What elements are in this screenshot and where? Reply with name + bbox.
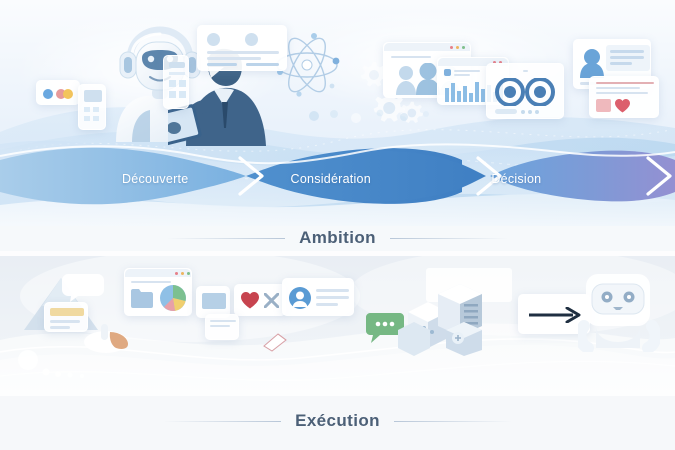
funnel-stage-label-1: Découverte: [122, 172, 188, 186]
server-boxes: [398, 268, 528, 356]
title-rule-left: [163, 421, 281, 422]
engagement-heart-card: [589, 76, 659, 118]
message-card: [205, 314, 239, 340]
funnel-stage-label-2: Considération: [291, 172, 371, 186]
title-rule-right: [394, 421, 512, 422]
chat-tail-icon: [208, 67, 224, 78]
note-icon: [262, 332, 288, 352]
arrow-right-icon: [529, 307, 581, 323]
device-keypad: [78, 84, 106, 130]
chat-contact-card: [197, 25, 287, 71]
heart-reaction-icon: [241, 292, 259, 309]
avatar-icon: [289, 287, 311, 309]
mobile-device: [163, 55, 189, 109]
execution-panel: Découverte Considération Décision Achat …: [0, 256, 675, 450]
folder-icon: [131, 288, 153, 308]
avatar: [245, 33, 258, 46]
title-rule-right: [390, 238, 508, 239]
targeting-card: [486, 63, 564, 119]
ambition-panel: Découverte Considération Décision Ambiti…: [0, 0, 675, 253]
profile-contact-card: [282, 278, 354, 316]
infographic-canvas: Découverte Considération Décision Ambiti…: [0, 0, 675, 450]
avatar: [207, 33, 220, 46]
analytics-pie-card: [124, 268, 192, 316]
speech-bubble-icon: [62, 274, 104, 302]
heart-icon: [615, 99, 630, 113]
avatar-icon: [580, 48, 604, 78]
execution-section-title: Exécution: [295, 411, 380, 431]
swatch-card: [36, 80, 80, 105]
close-x-icon: [264, 293, 279, 308]
audience-dots: [300, 104, 440, 128]
ambition-funnel: Découverte Considération Décision: [0, 140, 675, 218]
gear-icon: [358, 60, 388, 90]
ambition-title-row: Ambition: [0, 228, 675, 248]
title-rule-left: [167, 238, 285, 239]
reaction-card: [234, 284, 286, 316]
ambition-section-title: Ambition: [299, 228, 376, 248]
mouse-cursor-device: [82, 316, 142, 356]
pie-chart-icon: [159, 284, 187, 312]
execution-title-row: Exécution: [0, 411, 675, 431]
funnel-stage-label-3: Décision: [491, 172, 541, 186]
execution-robot: [578, 270, 660, 352]
target-icons: [495, 78, 557, 106]
